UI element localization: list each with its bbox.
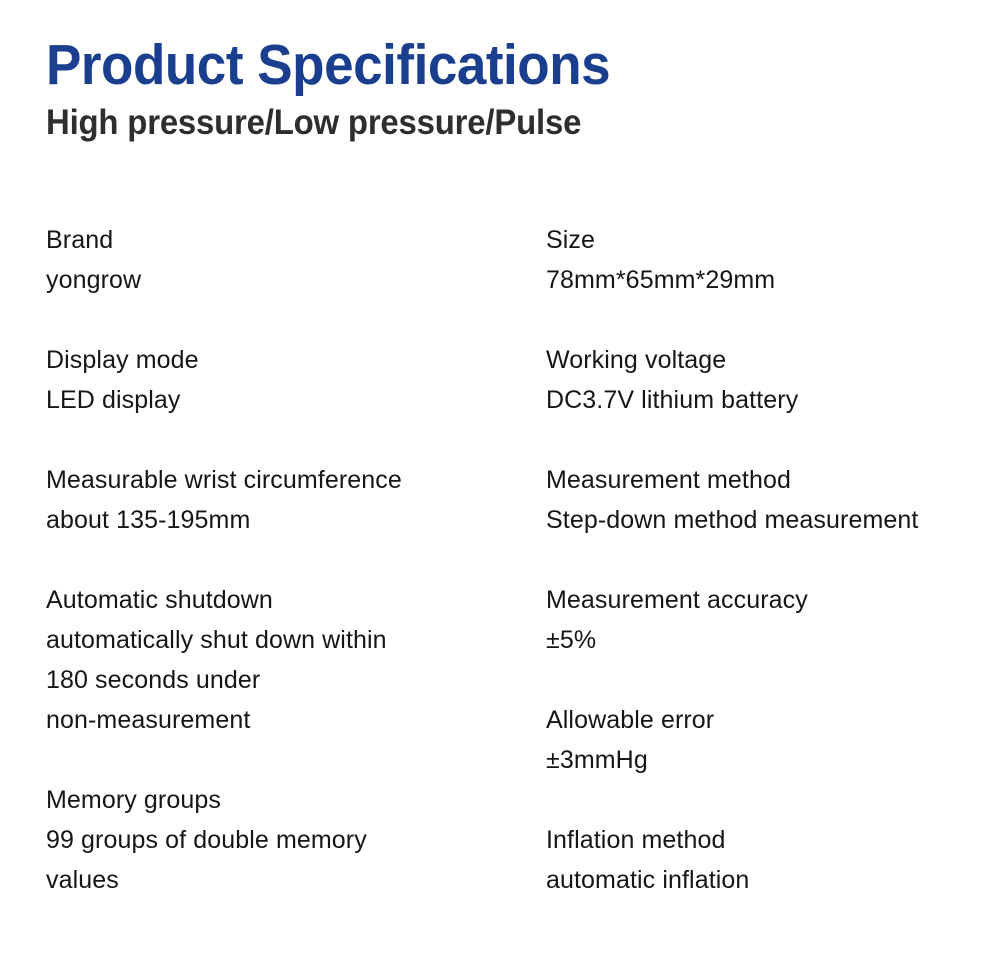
spec-label: Brand — [46, 220, 113, 260]
spec-value: about 135-195mm — [46, 500, 250, 540]
spec-value: 78mm*65mm*29mm — [546, 260, 775, 300]
spec-label: Working voltage — [546, 340, 726, 380]
spec-label: Size — [546, 220, 595, 260]
spec-column-right: Size78mm*65mm*29mmWorking voltageDC3.7V … — [546, 0, 976, 958]
spec-value: ±3mmHg — [546, 740, 648, 780]
spec-value: DC3.7V lithium battery — [546, 380, 798, 420]
spec-label: Automatic shutdown — [46, 580, 273, 620]
spec-value: 99 groups of double memory — [46, 820, 367, 860]
spec-label: Memory groups — [46, 780, 221, 820]
spec-column-left: BrandyongrowDisplay modeLED displayMeasu… — [46, 0, 516, 958]
spec-value: Step-down method measurement — [546, 500, 918, 540]
spec-label: Display mode — [46, 340, 199, 380]
spec-label: Measurement accuracy — [546, 580, 808, 620]
spec-value: 180 seconds under — [46, 660, 260, 700]
spec-label: Measurable wrist circumference — [46, 460, 402, 500]
spec-value: ±5% — [546, 620, 596, 660]
spec-label: Measurement method — [546, 460, 791, 500]
spec-value: non-measurement — [46, 700, 250, 740]
spec-label: Allowable error — [546, 700, 714, 740]
spec-value: automatically shut down within — [46, 620, 387, 660]
spec-value: yongrow — [46, 260, 141, 300]
product-specifications-page: Product Specifications High pressure/Low… — [0, 0, 1000, 958]
spec-label: Inflation method — [546, 820, 726, 860]
spec-value: automatic inflation — [546, 860, 749, 900]
specifications-list: BrandyongrowDisplay modeLED displayMeasu… — [0, 0, 1000, 958]
spec-value: LED display — [46, 380, 181, 420]
spec-value: values — [46, 860, 119, 900]
